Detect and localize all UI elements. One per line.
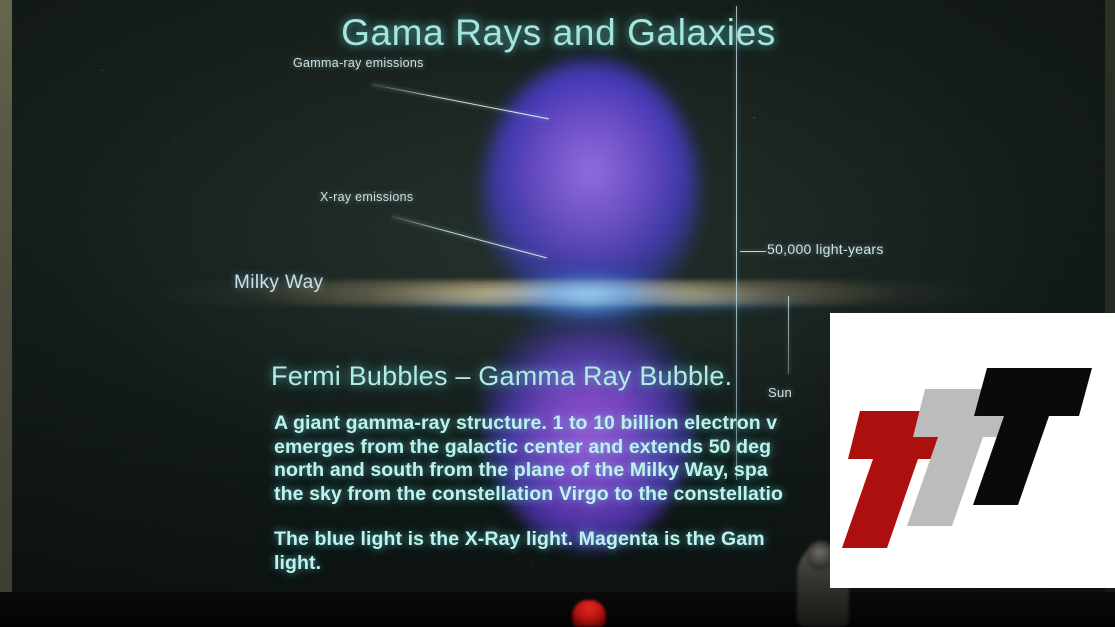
- annotation-sun: Sun: [768, 385, 792, 400]
- ttt-logo-overlay: [830, 313, 1115, 588]
- label-milky-way: Milky Way: [234, 272, 323, 294]
- sun-pointer-line: [788, 296, 789, 374]
- red-object-on-bench: [572, 600, 606, 627]
- scale-vertical-line: [736, 6, 737, 480]
- annotation-scale-distance: 50,000 light-years: [767, 241, 884, 257]
- galactic-core-glow: [482, 262, 696, 330]
- annotation-gamma-ray-emissions: Gamma-ray emissions: [293, 56, 424, 70]
- scale-tick-mark: [740, 251, 766, 252]
- bench-foreground: [0, 592, 1115, 627]
- screenshot-stage: Gama Rays and Galaxies Gamma-ray emissio…: [0, 0, 1115, 627]
- slide-heading-fermi-bubbles: Fermi Bubbles – Gamma Ray Bubble.: [271, 361, 732, 392]
- ttt-logo-icon: [830, 313, 1115, 588]
- annotation-x-ray-emissions: X-ray emissions: [320, 190, 413, 204]
- slide-title: Gama Rays and Galaxies: [12, 12, 1105, 54]
